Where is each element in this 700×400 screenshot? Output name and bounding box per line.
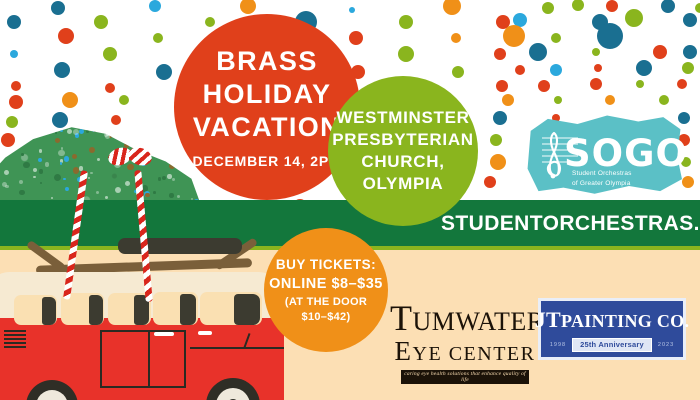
jt-year-end: 2023	[658, 342, 674, 348]
polka-dot	[9, 95, 23, 109]
tickets-door-line-2: $10–$42)	[302, 310, 351, 324]
polka-dot	[542, 2, 554, 14]
polka-dot	[682, 176, 694, 188]
tree-speckle	[65, 187, 69, 191]
polka-dot	[592, 48, 600, 56]
tree-speckle	[40, 182, 42, 184]
polka-dot	[205, 17, 215, 27]
polka-dot	[659, 95, 669, 105]
tumwater-cap-t: T	[390, 298, 413, 338]
tree-speckle	[21, 153, 24, 156]
polka-dot	[52, 112, 68, 128]
tree-speckle	[4, 170, 9, 175]
polka-dot	[551, 33, 561, 43]
tree-speckle	[73, 129, 79, 135]
polka-dot	[11, 81, 21, 91]
polka-dot	[683, 45, 697, 59]
bow-lobe	[126, 145, 154, 169]
tree-speckle	[64, 156, 69, 161]
bus-vent-line	[4, 330, 26, 332]
polka-dot	[349, 31, 363, 45]
tree-speckle	[63, 178, 65, 180]
polka-dot	[452, 66, 464, 78]
polka-dot	[605, 95, 615, 105]
venue-line-3: CHURCH,	[361, 151, 444, 173]
tree-speckle	[51, 197, 53, 199]
polka-dot	[683, 13, 697, 27]
tree-speckle	[60, 162, 62, 164]
tree-speckle	[96, 191, 99, 194]
polka-dot	[606, 0, 618, 12]
polka-dot	[677, 79, 687, 89]
polka-dot	[6, 116, 18, 128]
tree-speckle	[172, 178, 175, 181]
roof-rack-pad	[118, 238, 242, 254]
tree-speckle	[39, 169, 44, 174]
tree-speckle	[145, 193, 150, 198]
tree-speckle	[38, 158, 42, 162]
polka-dot	[496, 80, 508, 92]
tumwater-tagline: caring eye health solutions that enhance…	[401, 370, 529, 384]
polka-dot	[636, 60, 652, 76]
bus-vent-line	[4, 346, 26, 348]
polka-dot	[538, 80, 550, 92]
tree-speckle	[5, 185, 9, 189]
tree-speckle	[89, 147, 95, 153]
bus-window-shadow	[89, 295, 103, 325]
tree-speckle	[158, 177, 162, 181]
polka-dot	[661, 0, 675, 13]
polka-dot	[103, 47, 117, 61]
tree-speckle	[67, 129, 72, 134]
tree-speckle	[169, 193, 173, 197]
polka-dot	[682, 62, 694, 74]
tree-speckle	[72, 154, 77, 159]
event-date: DECEMBER 14, 2PM	[193, 153, 342, 169]
tree-speckle	[153, 191, 156, 194]
bus-trim-dash	[198, 331, 212, 335]
polka-dot	[62, 92, 78, 108]
tree-speckle	[54, 174, 61, 181]
polka-dot	[490, 134, 502, 146]
polka-dot	[111, 115, 121, 125]
tumwater-rest-1: UMWATER	[413, 307, 545, 336]
bus-vent-line	[4, 338, 26, 340]
bus-window-shadow	[42, 297, 56, 325]
tree-speckle	[162, 176, 166, 180]
event-title-line-2: HOLIDAY	[203, 78, 332, 111]
venue-line-4: OLYMPIA	[363, 173, 444, 195]
tree-speckle	[58, 150, 65, 157]
polka-dot	[10, 50, 18, 58]
jt-initials: JT	[535, 307, 561, 332]
bus-window-shadow	[234, 294, 260, 325]
bus-window-shadow	[180, 294, 196, 325]
polka-dot	[493, 111, 507, 125]
sogo-tagline-line-1: Student Orchestras	[572, 169, 632, 179]
polka-dot	[572, 0, 584, 11]
polka-dot	[503, 25, 525, 47]
polka-dot	[653, 45, 667, 59]
polka-dot	[590, 78, 602, 90]
polka-dot	[515, 65, 525, 75]
polka-dot	[695, 3, 700, 13]
sogo-logo[interactable]: SOGO Student Orchestras of Greater Olymp…	[526, 112, 682, 198]
polka-dot	[502, 94, 514, 106]
rope-bow	[108, 146, 154, 172]
polka-dot	[490, 154, 506, 170]
jt-painting-name: JTPAINTING CO.	[535, 307, 690, 333]
polka-dot	[443, 0, 461, 15]
tree-speckle	[97, 158, 100, 161]
polka-dot	[54, 62, 70, 78]
bus-door-line	[148, 330, 150, 386]
bus-trim-dash	[154, 332, 174, 336]
polka-dot	[636, 80, 644, 88]
tree-speckle	[88, 177, 90, 179]
sponsor-jt-painting-co[interactable]: JTPAINTING CO. 1998 25th Anniversary 202…	[538, 298, 686, 360]
polka-dot	[149, 0, 161, 12]
bus-vent-line	[4, 342, 26, 344]
polka-dot	[597, 23, 623, 49]
jt-name-rest: PAINTING CO.	[561, 311, 689, 331]
bus-side-line	[190, 347, 284, 349]
polka-dot	[594, 64, 602, 72]
tree-speckle	[23, 162, 29, 168]
polka-dot	[398, 46, 414, 62]
tree-speckle	[45, 162, 50, 167]
venue-circle: WESTMINSTER PRESBYTERIAN CHURCH, OLYMPIA	[328, 76, 478, 226]
polka-dot	[105, 83, 115, 93]
event-title-line-1: BRASS	[216, 45, 318, 78]
tree-speckle	[55, 138, 60, 143]
polka-dot	[529, 43, 547, 61]
polka-dot	[58, 28, 74, 44]
tumwater-cap-e: E	[395, 336, 413, 366]
jt-anniversary-badge: 25th Anniversary	[572, 338, 652, 352]
tree-speckle	[33, 176, 36, 179]
bus-vent-line	[4, 334, 26, 336]
polka-dot	[399, 15, 413, 29]
tree-speckle	[39, 149, 43, 153]
venue-line-2: PRESBYTERIAN	[332, 129, 474, 151]
sponsor-tumwater-eye-center[interactable]: TUMWATER EYE CENTER caring eye health so…	[390, 300, 540, 384]
polka-dot	[7, 15, 21, 29]
bus-door-line	[100, 386, 186, 388]
tree-speckle	[90, 172, 93, 175]
sogo-tagline: Student Orchestras of Greater Olympia	[572, 169, 632, 189]
tree-speckle	[105, 196, 108, 199]
tree-speckle	[19, 190, 24, 195]
tumwater-name-line-1: TUMWATER	[390, 300, 540, 336]
polka-dot	[484, 176, 496, 188]
polka-dot	[451, 33, 461, 43]
bus-door-line	[184, 330, 186, 386]
bus-door-line	[100, 330, 102, 386]
jt-anniversary-row: 1998 25th Anniversary 2023	[550, 338, 674, 352]
polka-dot	[51, 1, 65, 15]
polka-dot	[349, 7, 355, 13]
tickets-heading: BUY TICKETS:	[276, 256, 376, 274]
polka-dot	[119, 95, 129, 105]
polka-dot	[240, 0, 256, 14]
tickets-online-price: ONLINE $8–$35	[269, 276, 383, 292]
tree-speckle	[115, 187, 121, 193]
polka-dot	[1, 133, 15, 147]
sogo-tagline-line-2: of Greater Olympia	[572, 179, 632, 189]
tree-speckle	[19, 180, 23, 184]
polka-dot	[550, 64, 562, 76]
tree-speckle	[79, 129, 84, 134]
polka-dot	[554, 96, 562, 104]
tree-speckle	[125, 181, 130, 186]
polka-dot	[156, 64, 172, 80]
website-url[interactable]: STUDENTORCHESTRAS.ORG	[441, 212, 700, 236]
polka-dot	[94, 15, 108, 29]
tree-speckle	[167, 174, 171, 178]
tickets-circle[interactable]: BUY TICKETS: ONLINE $8–$35 (AT THE DOOR …	[264, 228, 388, 352]
tickets-door-line-1: (AT THE DOOR	[285, 295, 367, 309]
polka-dot	[494, 48, 506, 60]
tumwater-rest-2: YE CENTER	[413, 343, 536, 365]
polka-dot	[153, 33, 163, 43]
tree-speckle	[177, 195, 181, 199]
promotional-poster: BRASS HOLIDAY VACATION DECEMBER 14, 2PM …	[0, 0, 700, 400]
event-title-line-3: VACATION	[193, 111, 341, 144]
tumwater-name-line-2: EYE CENTER	[390, 337, 540, 367]
jt-year-start: 1998	[550, 342, 566, 348]
tree-speckle	[33, 168, 37, 172]
venue-line-1: WESTMINSTER	[336, 107, 469, 129]
polka-dot	[625, 9, 643, 27]
